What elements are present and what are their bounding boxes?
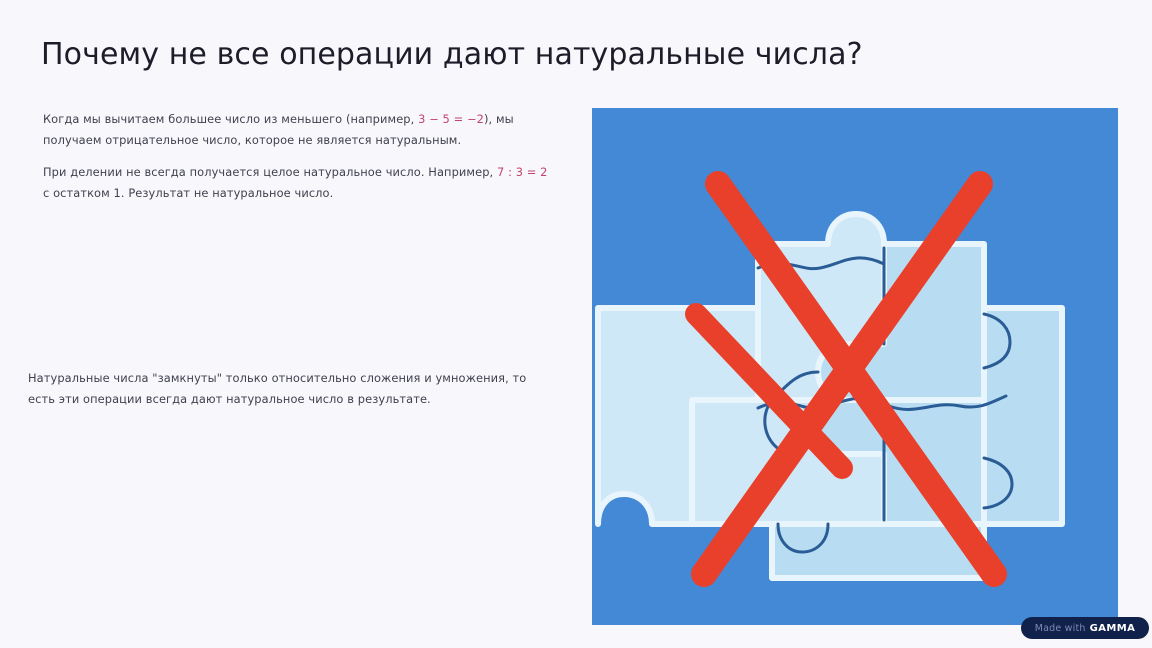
made-with-gamma-badge[interactable]: Made with GAMMA [1021,617,1149,639]
page-title: Почему не все операции дают натуральные … [41,36,1041,74]
badge-brand-label: GAMMA [1090,623,1136,634]
paragraph-subtraction-lead: Когда мы вычитаем большее число из меньш… [43,112,418,126]
paragraph-closure-text: Натуральные числа "замкнуты" только отно… [28,371,526,406]
puzzle-piece-right-wing [984,308,1062,524]
paragraph-division-tail: с остатком 1. Результат не натуральное ч… [43,186,333,200]
paragraph-division: При делении не всегда получается целое н… [43,162,555,203]
paragraph-closure: Натуральные числа "замкнуты" только отно… [28,368,556,409]
body-text-column: Когда мы вычитаем большее число из меньш… [0,100,576,570]
paragraph-division-highlight: 7 : 3 = 2 [497,165,548,179]
paragraph-subtraction: Когда мы вычитаем большее число из меньш… [43,109,558,150]
crossed-out-jigsaw-puzzle-image [592,108,1118,625]
paragraph-division-lead: При делении не всегда получается целое н… [43,165,497,179]
paragraph-subtraction-highlight: 3 − 5 = −2 [418,112,484,126]
slide-root: Почему не все операции дают натуральные … [0,0,1152,648]
badge-made-with-label: Made with [1035,623,1086,634]
jigsaw-puzzle-svg [592,108,1118,625]
